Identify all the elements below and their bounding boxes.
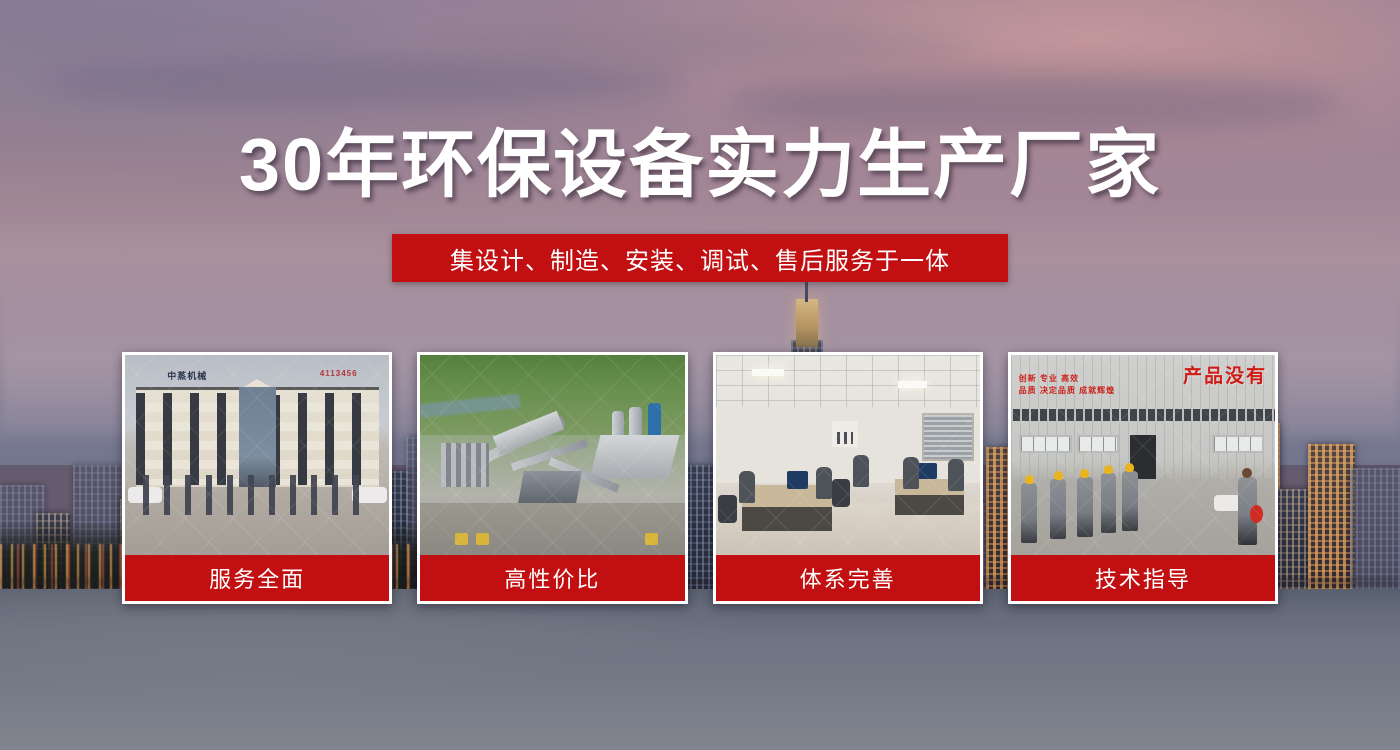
card-photo-plant-aerial	[420, 355, 684, 555]
card-photo-office-building: 中蒸机械 4113456	[125, 355, 389, 555]
card-caption: 服务全面	[125, 555, 389, 601]
feature-card[interactable]: 产品没有 创新 专业 高效品质 决定品质 成就辉煌 技术指	[1008, 352, 1278, 604]
factory-slogan-text: 产品没有	[1183, 361, 1267, 388]
card-caption: 高性价比	[420, 555, 684, 601]
page-title: 30年环保设备实力生产厂家	[0, 128, 1400, 202]
subtitle-text: 集设计、制造、安装、调试、售后服务于一体	[450, 241, 950, 276]
card-caption: 技术指导	[1011, 555, 1275, 601]
card-caption-label: 服务全面	[209, 562, 305, 594]
card-photo-office-interior	[716, 355, 980, 555]
feature-card-row: 中蒸机械 4113456 服务全面	[122, 352, 1278, 604]
card-photo-workshop-briefing: 产品没有 创新 专业 高效品质 决定品质 成就辉煌	[1011, 355, 1275, 555]
building-phone-text: 4113456	[320, 369, 358, 378]
card-caption: 体系完善	[716, 555, 980, 601]
feature-card[interactable]: 高性价比	[417, 352, 687, 604]
feature-card[interactable]: 体系完善	[713, 352, 983, 604]
feature-card[interactable]: 中蒸机械 4113456 服务全面	[122, 352, 392, 604]
factory-slogan-small-text: 创新 专业 高效品质 决定品质 成就辉煌	[1019, 373, 1115, 397]
hero-banner: 30年环保设备实力生产厂家 集设计、制造、安装、调试、售后服务于一体 中蒸机械 …	[0, 0, 1400, 750]
card-caption-label: 高性价比	[504, 562, 600, 594]
card-caption-label: 技术指导	[1095, 562, 1191, 594]
card-caption-label: 体系完善	[800, 562, 896, 594]
building-sign-text: 中蒸机械	[167, 369, 207, 382]
subtitle-banner: 集设计、制造、安装、调试、售后服务于一体	[392, 234, 1008, 282]
